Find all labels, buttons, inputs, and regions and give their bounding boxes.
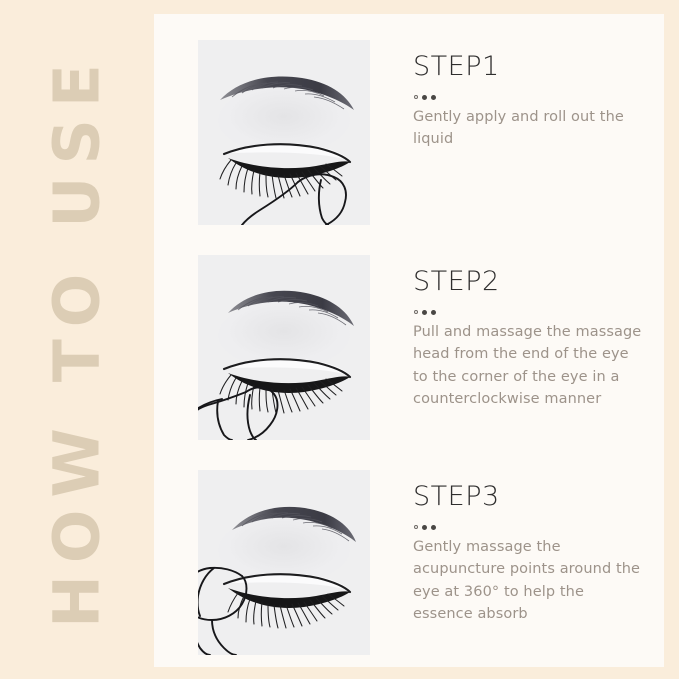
step1-dot-marker [414, 94, 648, 101]
solid-dot-icon [431, 310, 436, 315]
step1-text-block: STEP1 Gently apply and roll out the liqu… [370, 40, 648, 151]
step2-description: Pull and massage the massage head from t… [413, 321, 645, 411]
hollow-dot-icon [414, 95, 418, 99]
hollow-dot-icon [414, 525, 418, 529]
step-row: STEP3 Gently massage the acupuncture poi… [198, 470, 648, 655]
step3-dot-marker [414, 524, 648, 531]
step1-title: STEP1 [413, 52, 648, 82]
solid-dot-icon [422, 525, 427, 530]
solid-dot-icon [422, 310, 427, 315]
step3-title: STEP3 [413, 482, 648, 512]
step2-text-block: STEP2 Pull and massage the massage head … [370, 255, 648, 411]
vertical-title-band: HOW TO USE [0, 0, 154, 679]
step-row: STEP2 Pull and massage the massage head … [198, 255, 648, 440]
step1-description: Gently apply and roll out the liquid [413, 106, 645, 151]
step3-description: Gently massage the acupuncture points ar… [413, 536, 645, 626]
steps-list: STEP1 Gently apply and roll out the liqu… [198, 40, 648, 655]
hollow-dot-icon [414, 310, 418, 314]
step3-illustration [198, 470, 370, 655]
step2-title: STEP2 [413, 267, 648, 297]
how-to-use-poster: HOW TO USE [0, 0, 679, 679]
solid-dot-icon [431, 525, 436, 530]
poster-vertical-title: HOW TO USE [46, 52, 109, 628]
solid-dot-icon [431, 95, 436, 100]
step1-illustration [198, 40, 370, 225]
step3-text-block: STEP3 Gently massage the acupuncture poi… [370, 470, 648, 626]
step2-dot-marker [414, 309, 648, 316]
step-row: STEP1 Gently apply and roll out the liqu… [198, 40, 648, 225]
step2-illustration [198, 255, 370, 440]
solid-dot-icon [422, 95, 427, 100]
